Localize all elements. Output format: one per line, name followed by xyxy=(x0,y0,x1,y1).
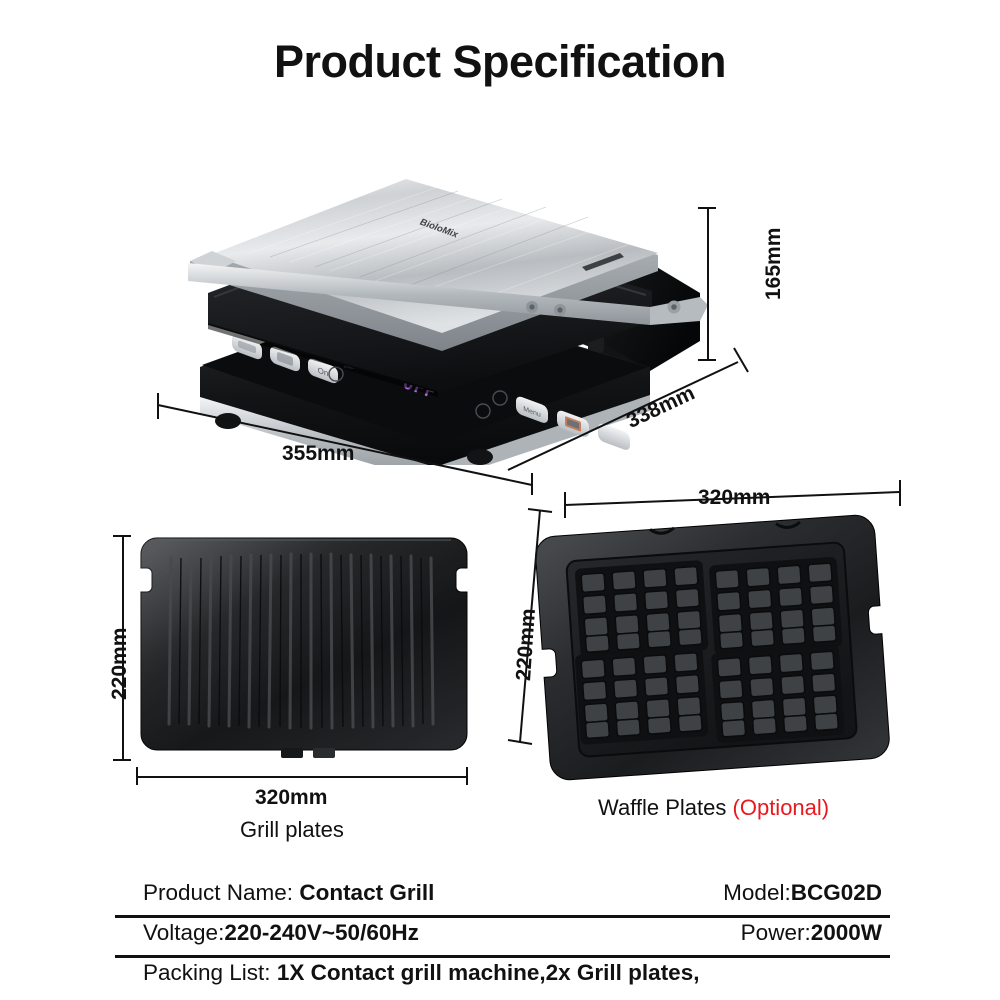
waffle-quadrant-1 xyxy=(575,560,709,659)
plate-clip-right xyxy=(313,748,335,758)
dim-line-grillplate-320 xyxy=(136,776,468,778)
spec-voltage: Voltage:220-240V~50/60Hz xyxy=(143,920,419,946)
spec-model-value: BCG02D xyxy=(791,880,882,905)
page-title: Product Specification xyxy=(0,36,1000,88)
spec-power: Power:2000W xyxy=(741,920,882,946)
dim-label-grillplate-width: 320mm xyxy=(255,786,327,810)
grill-plate-illustration xyxy=(135,528,475,766)
spec-voltage-label: Voltage: xyxy=(143,920,224,945)
spec-packing-label: Packing List: xyxy=(143,960,277,985)
spec-product-name-value: Contact Grill xyxy=(299,880,434,905)
spec-packing-value: 1X Contact grill machine,2x Grill plates… xyxy=(277,960,700,985)
dim-label-height: 165mm xyxy=(762,228,786,300)
dim-line-height-165 xyxy=(707,208,709,360)
spec-row-voltage: Voltage:220-240V~50/60Hz Power:2000W xyxy=(115,918,890,958)
dim-cap-165-top xyxy=(698,207,716,209)
grill-plate-caption: Grill plates xyxy=(240,817,344,843)
waffle-caption-optional: (Optional) xyxy=(733,795,830,820)
dim-cap-grillplate-220-bottom xyxy=(113,759,131,761)
spec-model: Model:BCG02D xyxy=(723,880,882,906)
spec-packing-list: Packing List: 1X Contact grill machine,2… xyxy=(143,960,699,986)
spec-row-product: Product Name: Contact Grill Model:BCG02D xyxy=(115,878,890,918)
waffle-quadrant-2 xyxy=(709,557,843,656)
waffle-plate-illustration xyxy=(533,505,908,805)
waffle-plate-caption: Waffle Plates (Optional) xyxy=(598,795,829,821)
spec-model-label: Model: xyxy=(723,880,791,905)
dim-cap-grillplate-320-right xyxy=(466,767,468,785)
waffle-caption-text: Waffle Plates xyxy=(598,795,733,820)
dim-cap-grillplate-220-top xyxy=(113,535,131,537)
spec-product-name: Product Name: Contact Grill xyxy=(143,880,434,906)
waffle-quadrant-3 xyxy=(575,646,709,745)
plate-clip-left xyxy=(281,748,303,758)
dim-label-grillplate-height: 220mm xyxy=(108,628,132,700)
spec-power-value: 2000W xyxy=(811,920,882,945)
dim-label-waffle-height: 220mm xyxy=(512,608,541,682)
spec-product-name-label: Product Name: xyxy=(143,880,299,905)
spec-voltage-value: 220-240V~50/60Hz xyxy=(224,920,419,945)
spec-power-label: Power: xyxy=(741,920,811,945)
dim-label-waffle-width: 320mm xyxy=(698,486,770,510)
specification-table: Product Name: Contact Grill Model:BCG02D… xyxy=(115,878,890,998)
waffle-quadrant-4 xyxy=(711,645,845,744)
dim-line-width-355 xyxy=(150,385,550,495)
dim-label-width: 355mm xyxy=(282,442,354,466)
document-page: Product Specification xyxy=(0,0,1000,1000)
dim-cap-grillplate-320-left xyxy=(136,767,138,785)
spec-row-packing: Packing List: 1X Contact grill machine,2… xyxy=(115,958,890,998)
